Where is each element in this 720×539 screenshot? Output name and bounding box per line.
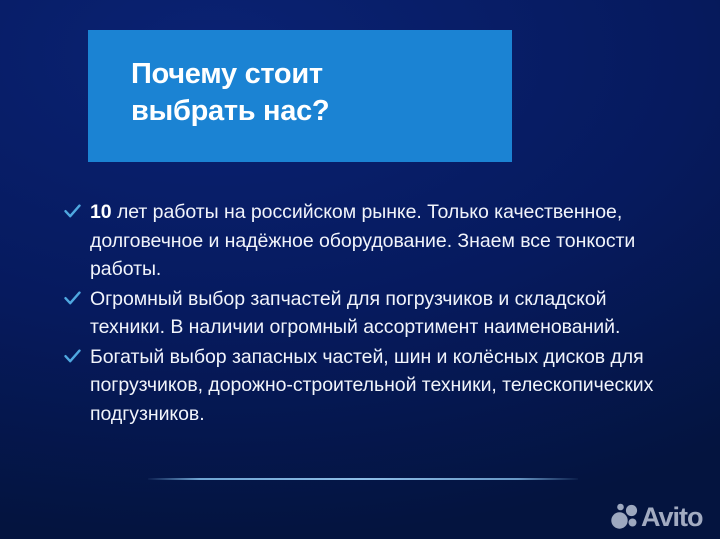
- list-item-text: Огромный выбор запчастей для погрузчиков…: [90, 285, 664, 342]
- check-icon: [64, 349, 81, 364]
- avito-dots-icon: [610, 503, 640, 531]
- list-item: Богатый выбор запасных частей, шин и кол…: [64, 343, 664, 429]
- list-item-text: Богатый выбор запасных частей, шин и кол…: [90, 343, 664, 429]
- check-icon: [64, 291, 81, 306]
- list-item-text: 10 лет работы на российском рынке. Тольк…: [90, 198, 664, 284]
- list-item: 10 лет работы на российском рынке. Тольк…: [64, 198, 664, 284]
- title-banner: Почему стоит выбрать нас?: [88, 30, 512, 162]
- divider: [148, 478, 578, 480]
- list-item-lead: 10: [90, 201, 112, 223]
- slide-canvas: Почему стоит выбрать нас? 10 лет работы …: [0, 0, 720, 539]
- avito-wordmark: Avito: [641, 504, 703, 531]
- avito-watermark: Avito: [610, 500, 710, 534]
- check-icon: [64, 204, 81, 219]
- list-item-body: лет работы на российском рынке. Только к…: [90, 201, 635, 280]
- list-item: Огромный выбор запчастей для погрузчиков…: [64, 285, 664, 342]
- benefits-list: 10 лет работы на российском рынке. Тольк…: [64, 198, 664, 429]
- page-title: Почему стоит выбрать нас?: [131, 56, 498, 130]
